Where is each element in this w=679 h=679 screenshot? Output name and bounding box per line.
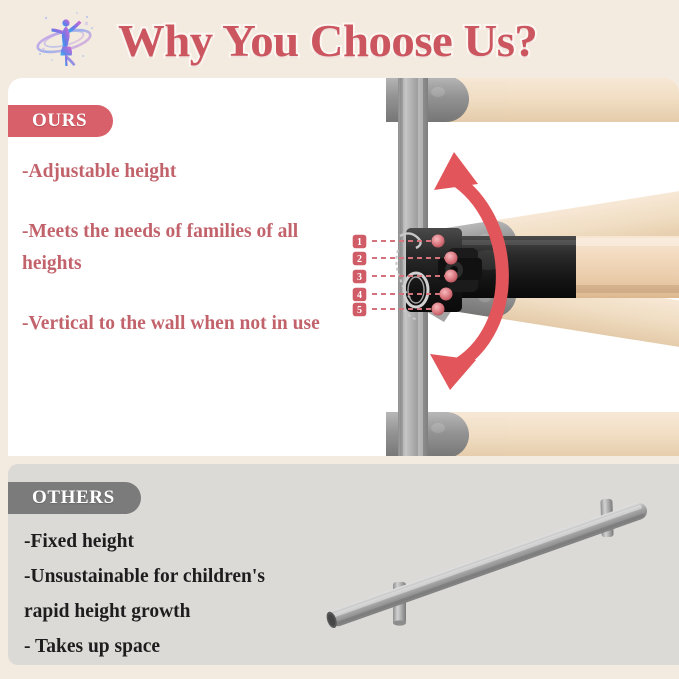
svg-text:5: 5	[357, 305, 362, 316]
ours-feature-item: -Meets the needs of families of all heig…	[22, 216, 332, 280]
ours-badge: OURS	[8, 105, 113, 137]
page-title: Why You Choose Us?	[118, 13, 659, 69]
svg-text:3: 3	[357, 272, 362, 283]
ours-feature-list: -Adjustable height -Meets the needs of f…	[22, 156, 332, 340]
active-barre	[456, 236, 679, 298]
others-badge: OTHERS	[8, 482, 141, 514]
svg-text:1: 1	[357, 237, 362, 248]
ours-feature-item: -Adjustable height	[22, 156, 332, 188]
svg-text:4: 4	[357, 290, 362, 301]
others-product-image	[298, 464, 679, 665]
svg-text:2: 2	[357, 254, 362, 265]
header: Why You Choose Us?	[0, 0, 679, 78]
ours-product-image: 1 2 3 4 5	[338, 78, 679, 456]
others-card: OTHERS -Fixed height -Unsustainable for …	[8, 464, 679, 665]
infographic-page: Why You Choose Us? OURS -Adjustable heig…	[0, 0, 679, 679]
ours-card: OURS -Adjustable height -Meets the needs…	[8, 78, 679, 456]
ours-feature-item: -Vertical to the wall when not in use	[22, 308, 332, 340]
ballerina-dancer-logo	[22, 8, 106, 70]
